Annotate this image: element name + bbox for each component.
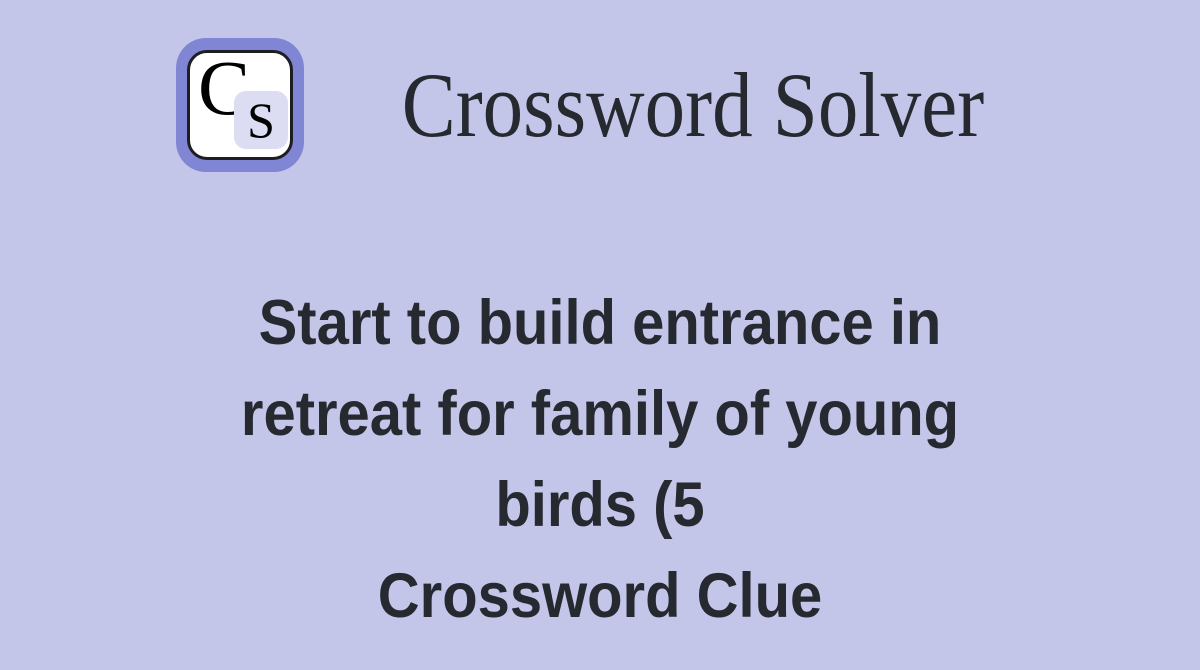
page-title-line: Crossword Clue xyxy=(140,551,1060,642)
page-title-line: birds (5 xyxy=(140,460,1060,551)
logo-letter-s-badge: S xyxy=(234,91,288,149)
logo-letter-s-icon: S xyxy=(234,91,288,149)
logo-tile: C S xyxy=(187,50,293,160)
crossword-solver-logo[interactable]: C S xyxy=(176,38,304,172)
crossword-clue-page: C S Crossword Solver Start to build entr… xyxy=(0,0,1200,670)
site-header: C S Crossword Solver xyxy=(0,38,1200,172)
page-title: Start to build entrance in retreat for f… xyxy=(100,278,1100,642)
site-title[interactable]: Crossword Solver xyxy=(402,59,984,151)
page-title-line: retreat for family of young xyxy=(140,369,1060,460)
page-title-line: Start to build entrance in xyxy=(140,278,1060,369)
